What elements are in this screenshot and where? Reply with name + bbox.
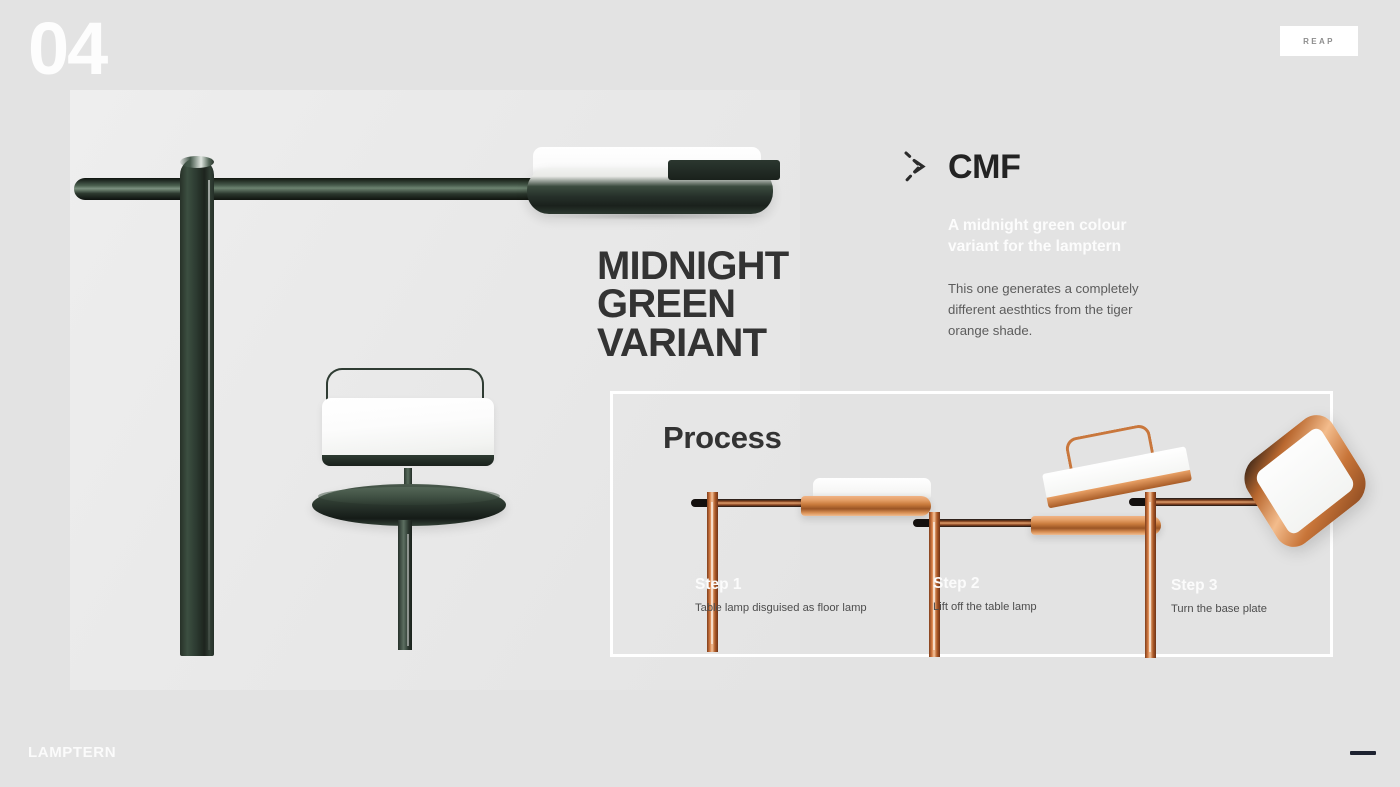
variant-title-line-3: VARIANT [597,324,788,362]
table-lamp-pole-highlight [407,534,409,646]
process-steps: Step 1 Table lamp disguised as floor lam… [613,394,1330,654]
reap-badge-label: REAP [1303,37,1335,46]
step3-description: Turn the base plate [1171,603,1267,615]
footer-dash-mark [1350,751,1376,755]
step1-label: Step 1 [695,576,742,594]
table-lamp-body-base [322,455,494,466]
step1-description: Table lamp disguised as floor lamp [695,602,867,614]
cmf-heading-row: CMF [900,145,1200,189]
table-lamp-plate-rim [318,487,500,505]
lamp-head-slot [668,160,780,180]
footer-brand: LAMPTERN [28,744,116,761]
step3-label: Step 3 [1171,577,1218,595]
step3-post-highlight [1149,502,1151,652]
table-lamp-render [0,0,600,700]
process-step-2: Step 2 Lift off the table lamp [891,394,1116,654]
process-panel: Process Step 1 Table lamp disguised as f… [610,391,1333,657]
step2-description: Lift off the table lamp [933,601,1037,613]
table-lamp-body [322,398,494,460]
step3-turned-base-plate [1236,406,1373,556]
step2-label: Step 2 [933,575,980,593]
cmf-title: CMF [948,150,1020,184]
dashed-chevron-right-icon [900,145,934,189]
process-step-1: Step 1 Table lamp disguised as floor lam… [653,394,878,654]
variant-title-line-1: MIDNIGHT [597,247,788,285]
process-step-3: Step 3 Turn the base plate [1123,394,1333,654]
step1-arm-tip [691,499,707,507]
cmf-section: CMF A midnight green colour variant for … [900,145,1200,341]
table-lamp-pole [398,520,412,650]
variant-title: MIDNIGHT GREEN VARIANT [597,247,788,362]
step3-arm-tip [1129,498,1145,506]
presentation-slide: 04 REAP MIDNIGHT GREEN VARIANT [0,0,1400,787]
cmf-body-text: This one generates a completely differen… [948,278,1166,341]
step2-arm [935,519,1039,527]
reap-badge[interactable]: REAP [1280,26,1358,56]
variant-title-line-2: GREEN [597,285,788,323]
cmf-subtitle: A midnight green colour variant for the … [948,215,1163,258]
step2-arm-tip [913,519,929,527]
step1-arm [713,499,809,507]
step1-post-highlight [711,502,713,644]
